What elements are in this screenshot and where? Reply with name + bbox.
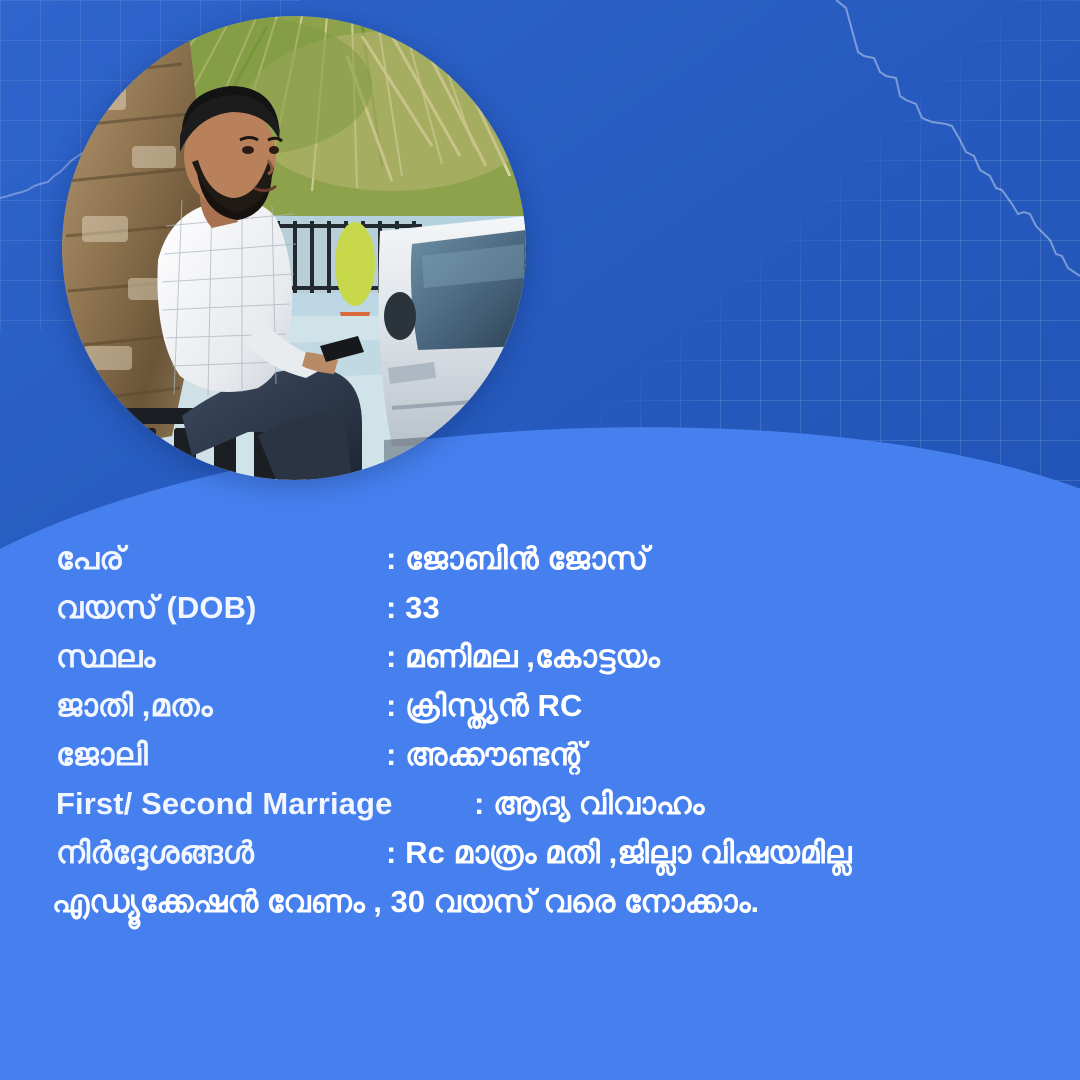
preferences-note: എഡ്യൂക്കേഷൻ വേണം , 30 വയസ് വരെ നോക്കാം. xyxy=(52,877,759,926)
detail-row-note: എഡ്യൂക്കേഷൻ വേണം , 30 വയസ് വരെ നോക്കാം. xyxy=(0,877,1080,926)
detail-row-name: പേര് : ജോബിൻ ജോസ് xyxy=(0,534,1080,583)
detail-row-job: ജോലി : അക്കൗണ്ടന്റ് xyxy=(0,730,1080,779)
detail-label: വയസ് (DOB) xyxy=(56,583,256,632)
detail-label: ജാതി ,മതം xyxy=(56,681,213,730)
detail-label: സ്ഥലം xyxy=(56,632,156,681)
detail-row-place: സ്ഥലം : മണിമല ,കോട്ടയം xyxy=(0,632,1080,681)
detail-label: ജോലി xyxy=(56,730,148,779)
detail-row-caste-religion: ജാതി ,മതം : ക്രിസ്ത്യൻ RC xyxy=(0,681,1080,730)
profile-details: പേര് : ജോബിൻ ജോസ് വയസ് (DOB) : 33 സ്ഥലം … xyxy=(0,534,1080,926)
detail-value: : ക്രിസ്ത്യൻ RC xyxy=(386,681,582,730)
profile-photo-image xyxy=(62,16,526,480)
detail-value: : Rc മാത്രം മതി ,ജില്ലാ വിഷയമില്ല xyxy=(386,828,852,877)
profile-card: പേര് : ജോബിൻ ജോസ് വയസ് (DOB) : 33 സ്ഥലം … xyxy=(0,0,1080,1080)
detail-label: First/ Second Marriage xyxy=(56,779,392,828)
detail-value: : മണിമല ,കോട്ടയം xyxy=(386,632,660,681)
detail-row-age: വയസ് (DOB) : 33 xyxy=(0,583,1080,632)
detail-row-marriage: First/ Second Marriage : ആദ്യ വിവാഹം xyxy=(0,779,1080,828)
detail-value: : ജോബിൻ ജോസ് xyxy=(386,534,648,583)
detail-value: : 33 xyxy=(386,583,440,632)
detail-label: പേര് xyxy=(56,534,124,583)
descending-chart-line xyxy=(836,0,1080,276)
profile-photo xyxy=(62,16,526,480)
detail-row-preferences: നിർദ്ദേശങ്ങൾ : Rc മാത്രം മതി ,ജില്ലാ വിഷ… xyxy=(0,828,1080,877)
detail-value: : അക്കൗണ്ടന്റ് xyxy=(386,730,586,779)
detail-value: : ആദ്യ വിവാഹം xyxy=(474,779,705,828)
detail-label: നിർദ്ദേശങ്ങൾ xyxy=(56,828,254,877)
